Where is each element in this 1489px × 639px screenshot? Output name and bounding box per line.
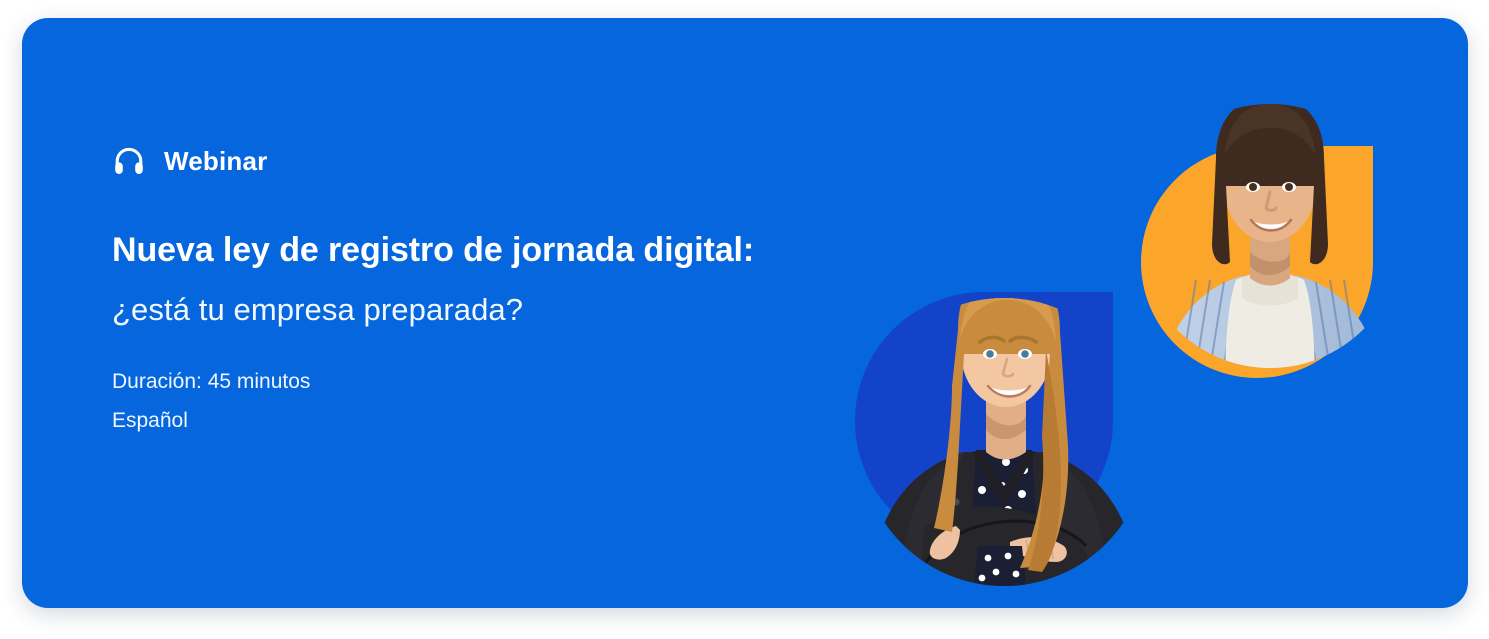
headphones-icon (112, 144, 146, 178)
webinar-promo-banner: Webinar Nueva ley de registro de jornada… (0, 0, 1489, 639)
eyebrow-row: Webinar (112, 138, 872, 184)
speaker-portrait-right (1138, 66, 1402, 406)
card-content: Webinar Nueva ley de registro de jornada… (112, 138, 872, 441)
webinar-meta: Duración: 45 minutos Español (112, 363, 872, 441)
page-title: Nueva ley de registro de jornada digital… (112, 232, 872, 269)
eyebrow-label: Webinar (164, 148, 268, 174)
page-subtitle: ¿está tu empresa preparada? (112, 293, 872, 327)
webinar-card[interactable]: Webinar Nueva ley de registro de jornada… (22, 18, 1468, 608)
duration-text: Duración: 45 minutos (112, 363, 872, 402)
language-text: Español (112, 402, 872, 441)
speaker-portrait-left (860, 246, 1148, 586)
